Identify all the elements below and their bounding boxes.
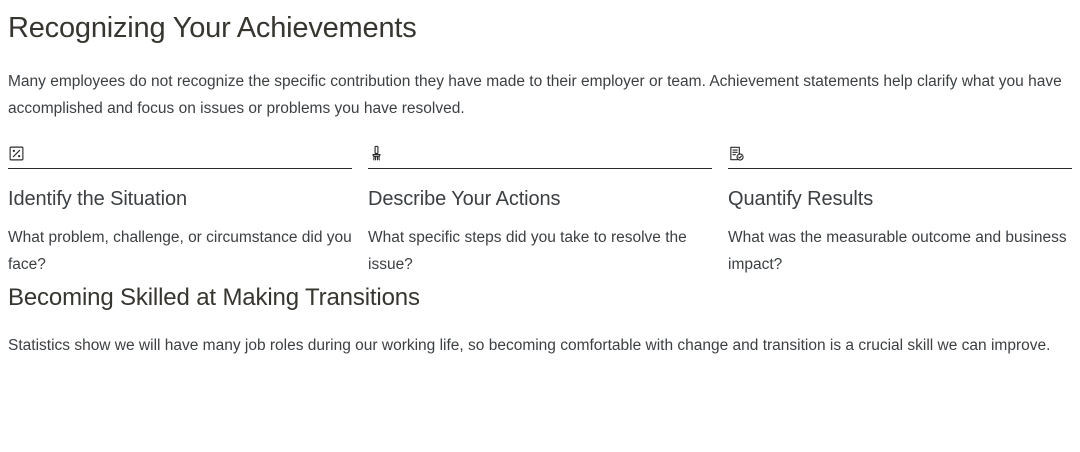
column-title: Quantify Results xyxy=(728,169,1072,212)
section-two-paragraph: Statistics show we will have many job ro… xyxy=(8,313,1064,359)
document-page: Recognizing Your Achievements Many emplo… xyxy=(0,0,1080,452)
intro-paragraph: Many employees do not recognize the spec… xyxy=(8,46,1064,122)
document-check-icon xyxy=(728,140,1072,164)
column-title: Describe Your Actions xyxy=(368,169,712,212)
column-describe-your-actions: Describe Your Actions What specific step… xyxy=(368,140,712,278)
column-quantify-results: Quantify Results What was the measurable… xyxy=(728,140,1072,278)
column-title: Identify the Situation xyxy=(8,169,352,212)
column-body: What specific steps did you take to reso… xyxy=(368,212,712,278)
section-two-title: Becoming Skilled at Making Transitions xyxy=(8,278,1072,313)
scatter-plot-square-icon xyxy=(8,140,352,164)
column-body: What problem, challenge, or circumstance… xyxy=(8,212,352,278)
column-body: What was the measurable outcome and busi… xyxy=(728,212,1072,278)
brush-tool-icon xyxy=(368,140,712,164)
achievement-columns: Identify the Situation What problem, cha… xyxy=(8,123,1072,278)
page-title: Recognizing Your Achievements xyxy=(8,0,1072,46)
column-identify-the-situation: Identify the Situation What problem, cha… xyxy=(8,140,352,278)
